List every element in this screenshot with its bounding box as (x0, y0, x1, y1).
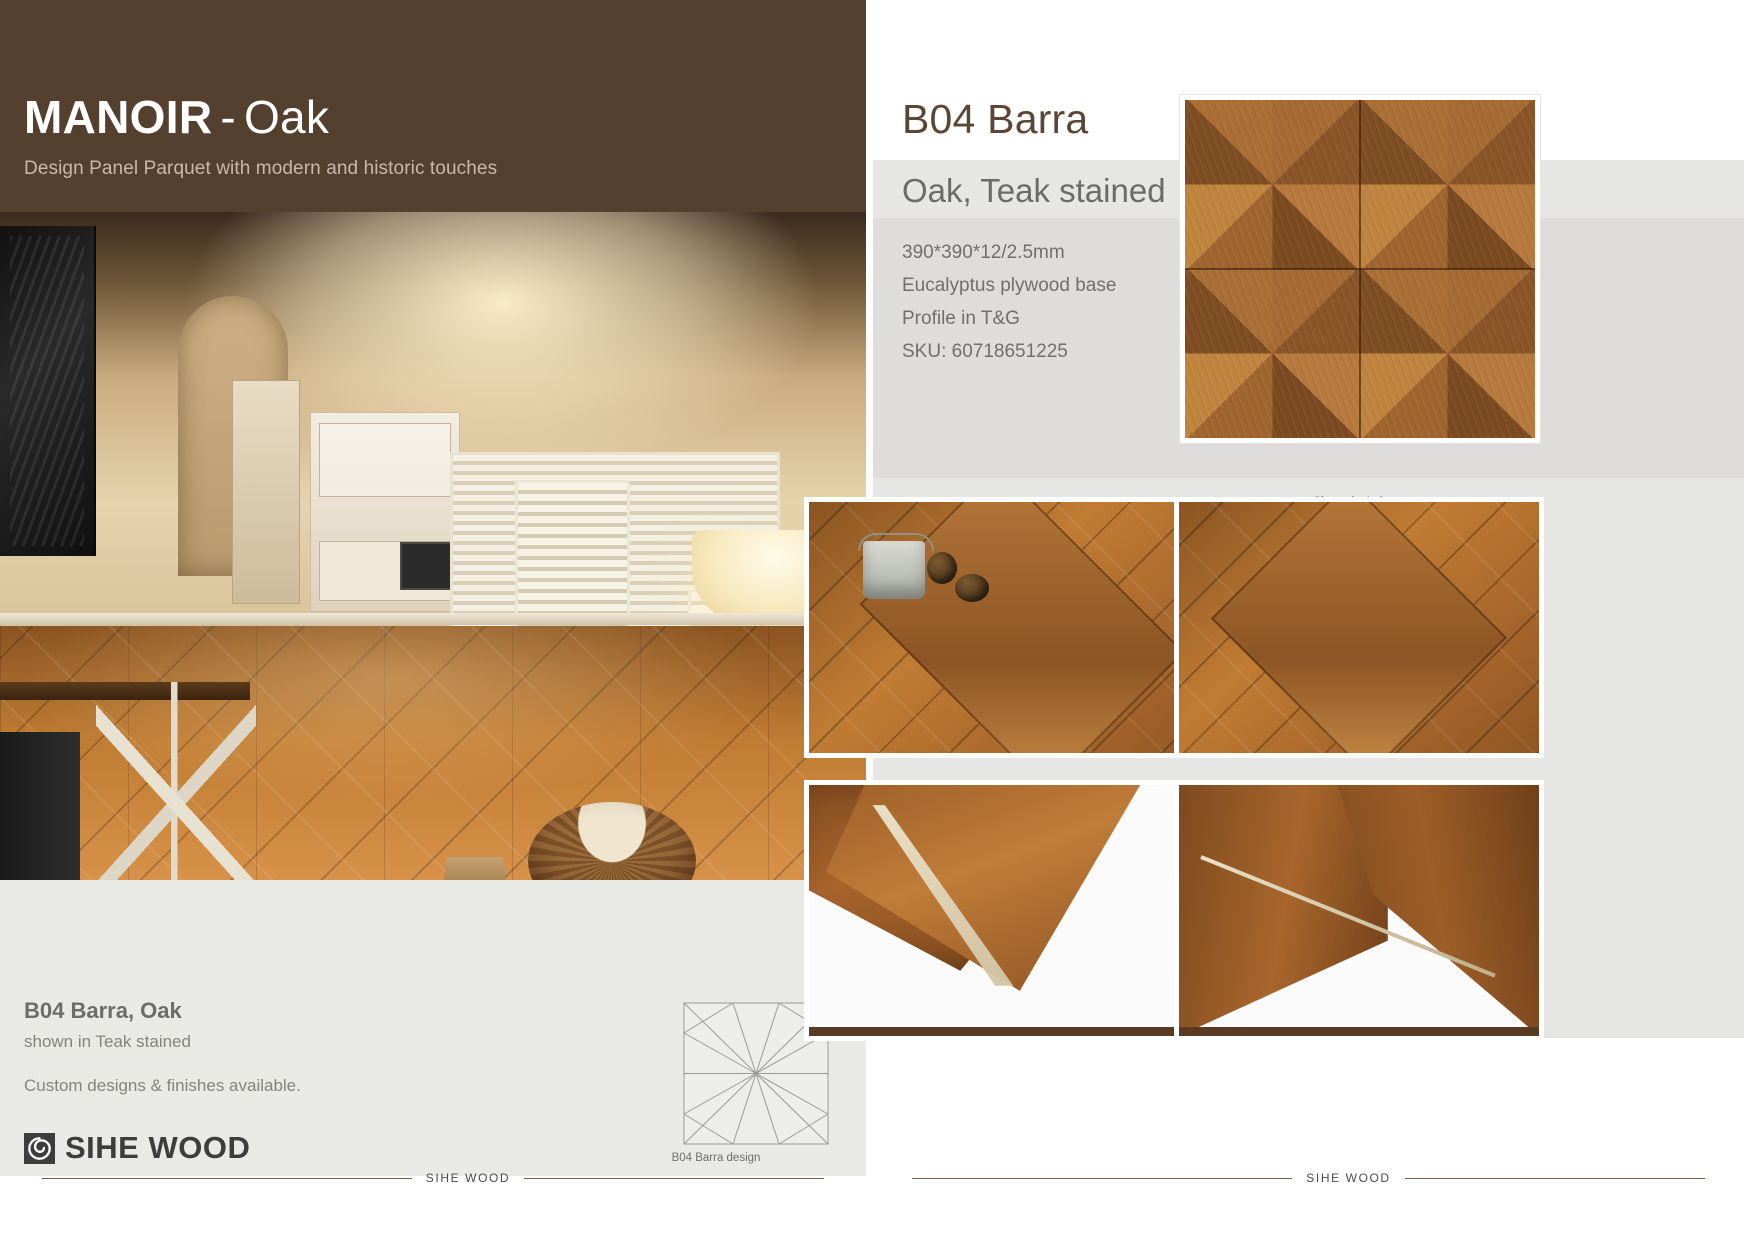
right-panel: B04 Barra Oak, Teak stained 390*390*12/2… (873, 0, 1744, 1241)
footer-rule-left (42, 1178, 412, 1179)
left-header-band: MANOIR-Oak Design Panel Parquet with mod… (0, 0, 866, 212)
pinecone (927, 552, 957, 584)
page-subtitle: Design Panel Parquet with modern and his… (24, 158, 497, 180)
spec-list: 390*390*12/2.5mm Eucalyptus plywood base… (902, 236, 1116, 368)
photo-base-strip (809, 1027, 1234, 1036)
parquet-seams (1185, 100, 1535, 438)
footer-brand-label: SIHE WOOD (1306, 1171, 1390, 1185)
custom-note-label: Custom designs & finishes available. (24, 1076, 301, 1096)
brand-variant: Oak (244, 91, 329, 143)
door (232, 380, 300, 604)
wall-art (0, 226, 96, 556)
spiral-logo-icon (24, 1133, 55, 1164)
right-page-footer: SIHE WOOD (873, 1171, 1744, 1185)
baseboard (0, 613, 866, 625)
spec-item-dimensions: 390*390*12/2.5mm (902, 236, 1116, 269)
parquet-pattern (1185, 100, 1535, 438)
page-title: MANOIR-Oak (24, 94, 329, 140)
product-subtitle: Oak, Teak stained (902, 172, 1166, 210)
spec-item-profile: Profile in T&G (902, 302, 1116, 335)
spec-item-base: Eucalyptus plywood base (902, 269, 1116, 302)
brand-name: MANOIR (24, 91, 212, 143)
parquet-closeup-photo (1174, 497, 1544, 758)
panel-corner-profile-photo (1174, 780, 1544, 1041)
product-swatch-image (1180, 95, 1540, 443)
brand-dash: - (212, 91, 244, 143)
left-page-footer: SIHE WOOD (0, 1171, 866, 1185)
footer-rule-right (1405, 1178, 1705, 1179)
brand-logo: SIHE WOOD (24, 1130, 250, 1166)
dark-chair (0, 732, 80, 880)
left-bottom-white (0, 1176, 866, 1241)
footer-rule-left (912, 1178, 1292, 1179)
spec-item-sku: SKU: 60718651225 (902, 335, 1116, 368)
metal-bucket (863, 541, 925, 599)
photo-base-strip (1179, 1027, 1539, 1036)
product-finish-label: shown in Teak stained (24, 1032, 191, 1052)
photo-props (835, 522, 980, 627)
footer-brand-label: SIHE WOOD (426, 1171, 510, 1185)
pinecone (955, 574, 989, 602)
product-title: B04 Barra (902, 96, 1088, 143)
brand-logo-text: SIHE WOOD (65, 1130, 250, 1166)
product-name-label: B04 Barra, Oak (24, 998, 182, 1024)
footer-rule-right (524, 1178, 824, 1179)
room-photo (0, 212, 866, 880)
small-stool (440, 857, 510, 880)
wire-chair (96, 682, 256, 880)
design-diagram-caption: B04 Barra design (616, 1152, 816, 1164)
